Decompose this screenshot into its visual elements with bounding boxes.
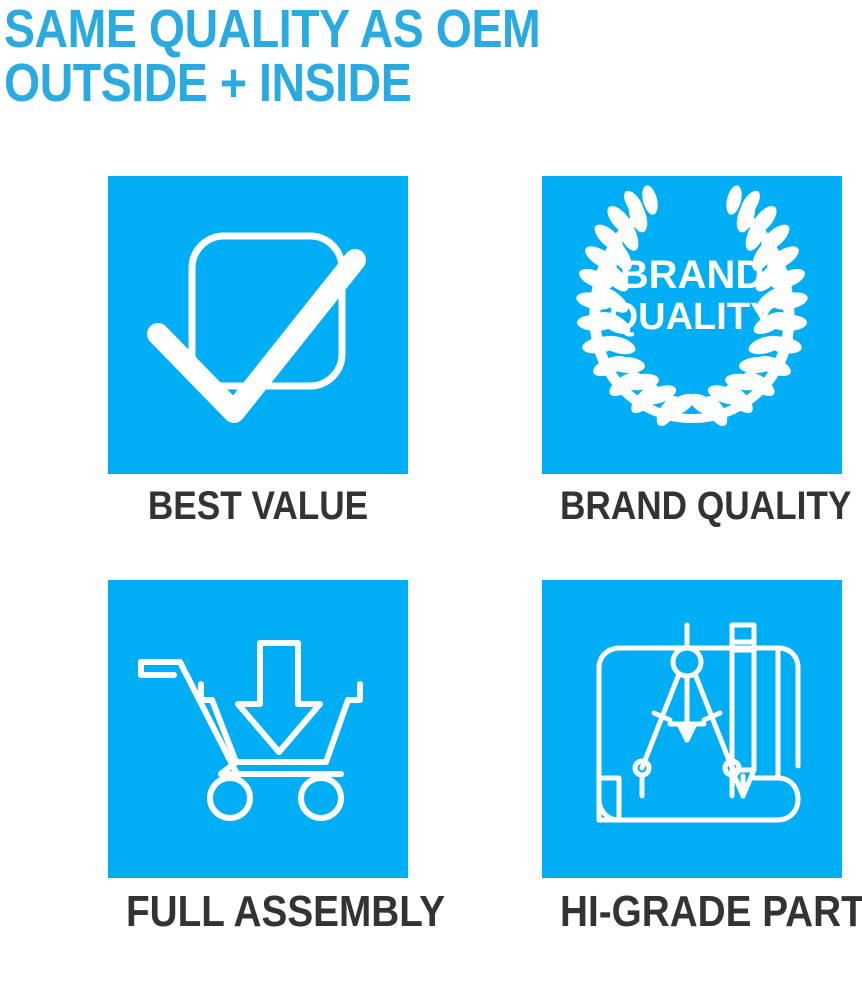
feature-row-2: FULL ASSEMBLY [0,580,862,984]
feature-label-brand-quality: BRAND QUALITY [560,484,824,528]
laurel-wreath-icon [542,176,842,474]
headline-block: SAME QUALITY AS OEM OUTSIDE + INSIDE [4,2,858,110]
feature-row-1: BEST VALUE [0,176,862,580]
feature-tile-best-value [108,176,408,474]
feature-card-full-assembly[interactable]: FULL ASSEMBLY [108,580,408,936]
feature-tile-brand-quality: BRAND QUALITY [542,176,842,474]
blueprint-compass-pencil-icon [542,580,842,878]
headline-line-2: OUTSIDE + INSIDE [4,56,738,110]
checkbox-check-icon [108,176,408,474]
feature-card-brand-quality[interactable]: BRAND QUALITY BRAND QUALITY [542,176,842,528]
feature-tile-hi-grade-parts [542,580,842,878]
shopping-cart-download-icon [108,580,408,878]
feature-grid: BEST VALUE [0,176,862,984]
headline-line-1: SAME QUALITY AS OEM [4,2,738,56]
feature-card-best-value[interactable]: BEST VALUE [108,176,408,528]
feature-label-best-value: BEST VALUE [126,484,390,528]
feature-card-hi-grade-parts[interactable]: HI-GRADE PARTS [542,580,842,936]
feature-tile-full-assembly [108,580,408,878]
